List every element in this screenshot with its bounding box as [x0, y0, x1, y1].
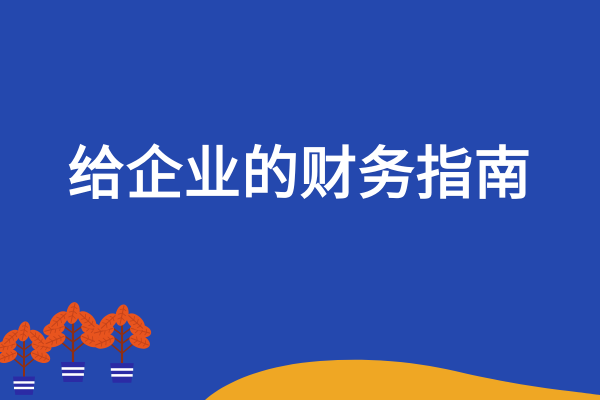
- potted-plant-cluster: [0, 300, 200, 400]
- presentation-slide: 给企业的财务指南: [0, 0, 600, 400]
- potted-plant-right: [91, 303, 152, 382]
